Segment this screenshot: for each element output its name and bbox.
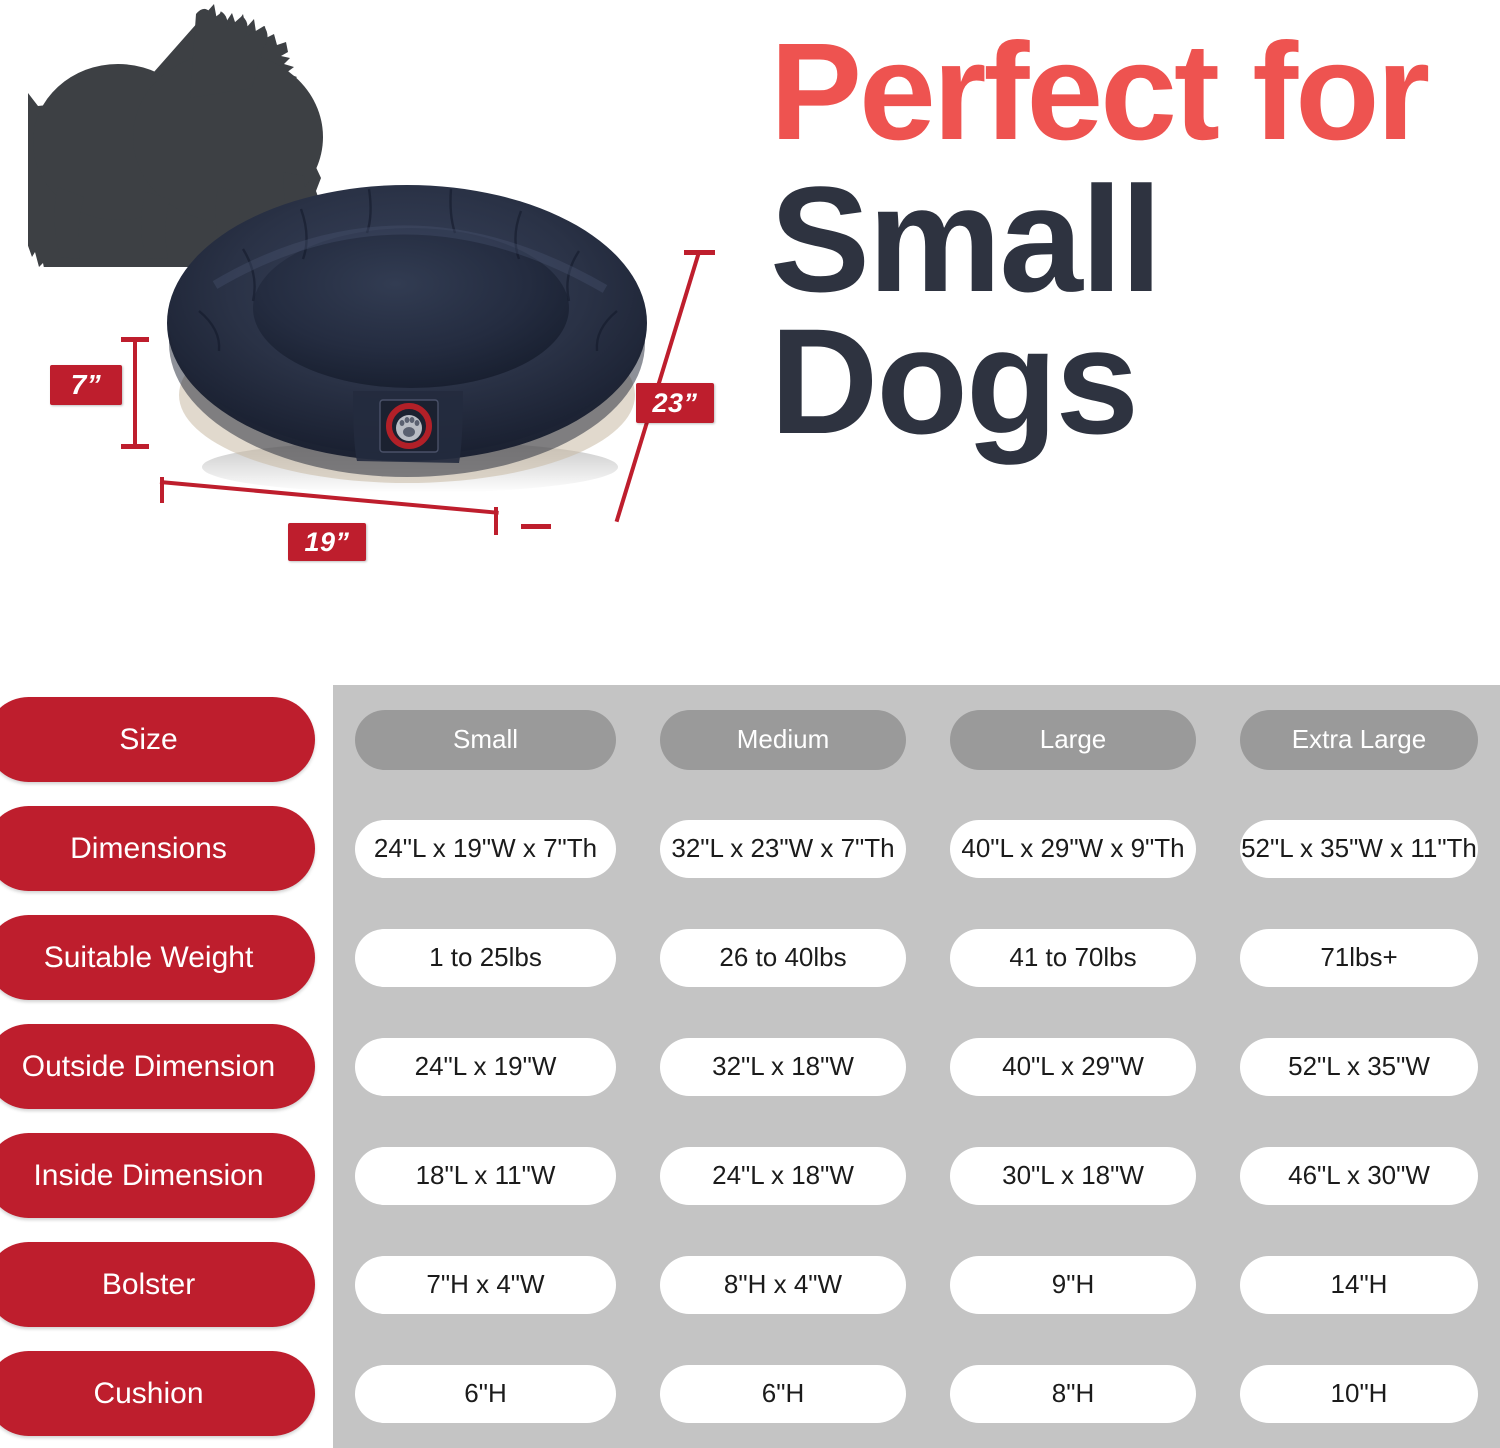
headline-line-2: Small: [770, 170, 1480, 310]
hero-section: 7” 19” 23” Perfect for Small Dogs: [0, 0, 1500, 660]
column-header-extra-large: Extra Large: [1240, 710, 1478, 770]
column-header-small: Small: [355, 710, 616, 770]
brand-tag: [380, 400, 438, 452]
cell-bolster-large: 9"H: [950, 1256, 1196, 1314]
cell-bolster-small: 7"H x 4"W: [355, 1256, 616, 1314]
cell-cushion-small: 6"H: [355, 1365, 616, 1423]
width-dimension-badge: 19”: [288, 523, 366, 561]
cell-dimensions-small: 24"L x 19"W x 7"Th: [355, 820, 616, 878]
width-dimension-cap-left: [160, 477, 164, 503]
height-dimension-line: [133, 338, 137, 448]
row-label-dimensions: Dimensions: [0, 806, 315, 891]
height-dimension-badge: 7”: [50, 365, 122, 405]
cell-suitable-weight-small: 1 to 25lbs: [355, 929, 616, 987]
row-label-size: Size: [0, 697, 315, 782]
cell-bolster-medium: 8"H x 4"W: [660, 1256, 906, 1314]
height-dimension-cap-top: [121, 337, 149, 342]
cell-cushion-large: 8"H: [950, 1365, 1196, 1423]
row-label-inside-dimension: Inside Dimension: [0, 1133, 315, 1218]
row-label-bolster: Bolster: [0, 1242, 315, 1327]
height-dimension-cap-bottom: [121, 444, 149, 449]
cell-suitable-weight-large: 41 to 70lbs: [950, 929, 1196, 987]
cell-inside-dimension-large: 30"L x 18"W: [950, 1147, 1196, 1205]
cell-outside-dimension-small: 24"L x 19"W: [355, 1038, 616, 1096]
spec-table-grid: Size Small Medium Large Extra Large Dime…: [0, 685, 1500, 1448]
cell-cushion-medium: 6"H: [660, 1365, 906, 1423]
row-label-outside-dimension: Outside Dimension: [0, 1024, 315, 1109]
column-header-large: Large: [950, 710, 1196, 770]
length-dimension-cap-bottom: [521, 524, 551, 529]
dog-bed-image: [155, 145, 660, 500]
cell-outside-dimension-large: 40"L x 29"W: [950, 1038, 1196, 1096]
cell-suitable-weight-extra-large: 71lbs+: [1240, 929, 1478, 987]
cell-outside-dimension-medium: 32"L x 18"W: [660, 1038, 906, 1096]
length-dimension-badge: 23”: [636, 383, 714, 423]
cell-cushion-extra-large: 10"H: [1240, 1365, 1478, 1423]
row-label-suitable-weight: Suitable Weight: [0, 915, 315, 1000]
cell-inside-dimension-small: 18"L x 11"W: [355, 1147, 616, 1205]
headline-line-1: Perfect for: [770, 28, 1480, 156]
cell-outside-dimension-extra-large: 52"L x 35"W: [1240, 1038, 1478, 1096]
headline-line-3: Dogs: [770, 312, 1480, 452]
width-dimension-cap-right: [494, 507, 498, 535]
column-header-medium: Medium: [660, 710, 906, 770]
headline-block: Perfect for Small Dogs: [770, 28, 1480, 451]
cell-inside-dimension-medium: 24"L x 18"W: [660, 1147, 906, 1205]
cell-dimensions-extra-large: 52"L x 35"W x 11"Th: [1240, 820, 1478, 878]
length-dimension-cap-top: [684, 250, 715, 255]
cell-inside-dimension-extra-large: 46"L x 30"W: [1240, 1147, 1478, 1205]
cell-suitable-weight-medium: 26 to 40lbs: [660, 929, 906, 987]
row-label-cushion: Cushion: [0, 1351, 315, 1436]
cell-dimensions-medium: 32"L x 23"W x 7"Th: [660, 820, 906, 878]
cell-bolster-extra-large: 14"H: [1240, 1256, 1478, 1314]
specification-table: Size Small Medium Large Extra Large Dime…: [0, 685, 1500, 1448]
cell-dimensions-large: 40"L x 29"W x 9"Th: [950, 820, 1196, 878]
